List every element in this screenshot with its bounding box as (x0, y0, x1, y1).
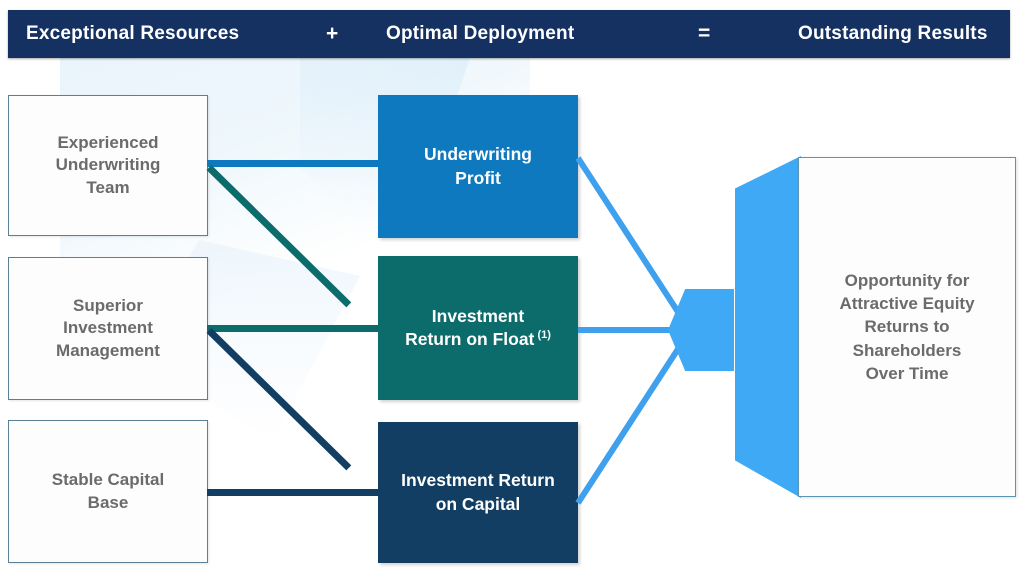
header-label-outstanding-results: Outstanding Results (798, 23, 988, 45)
connector-underwriting-team-to-underwriting-profit (207, 160, 380, 167)
connector-capital-base-to-return-on-capital (207, 489, 380, 496)
convergence-arrow-icon (668, 289, 734, 371)
deployment-box-investment-return-on-float[interactable]: InvestmentReturn on Float (1) (378, 256, 578, 400)
deployment-box-label: UnderwritingProfit (424, 143, 532, 190)
header-bar: Exceptional Resources + Optimal Deployme… (8, 10, 1010, 58)
resource-box-label: SuperiorInvestmentManagement (56, 295, 160, 362)
connector-investment-management-to-return-on-float (207, 325, 380, 332)
connector-return-on-float-to-result (578, 327, 672, 333)
deployment-box-label: InvestmentReturn on Float (1) (405, 305, 551, 352)
result-box-label: Opportunity forAttractive EquityReturns … (839, 269, 974, 385)
footnote-marker: (1) (534, 329, 551, 341)
resource-box-superior-investment-management[interactable]: SuperiorInvestmentManagement (8, 257, 208, 400)
header-label-optimal-deployment: Optimal Deployment (386, 23, 574, 45)
diagram-canvas: Exceptional Resources + Optimal Deployme… (0, 0, 1024, 571)
deployment-box-label: Investment Returnon Capital (401, 469, 555, 516)
connector-underwriting-team-to-return-on-float (207, 165, 352, 307)
deployment-box-investment-return-on-capital[interactable]: Investment Returnon Capital (378, 422, 578, 563)
equals-symbol-icon: = (698, 22, 710, 46)
deployment-box-underwriting-profit[interactable]: UnderwritingProfit (378, 95, 578, 238)
funnel-shape-icon (735, 156, 801, 498)
resource-box-label: Stable CapitalBase (52, 469, 164, 514)
connector-return-on-capital-to-result (575, 329, 692, 504)
resource-box-experienced-underwriting-team[interactable]: ExperiencedUnderwritingTeam (8, 95, 208, 236)
connector-investment-management-to-return-on-capital (207, 328, 352, 470)
connector-underwriting-profit-to-result (575, 156, 692, 331)
result-box-opportunity[interactable]: Opportunity forAttractive EquityReturns … (798, 157, 1016, 497)
resource-box-label: ExperiencedUnderwritingTeam (56, 132, 161, 199)
plus-symbol-icon: + (326, 22, 338, 46)
header-label-exceptional-resources: Exceptional Resources (26, 23, 239, 45)
resource-box-stable-capital-base[interactable]: Stable CapitalBase (8, 420, 208, 563)
